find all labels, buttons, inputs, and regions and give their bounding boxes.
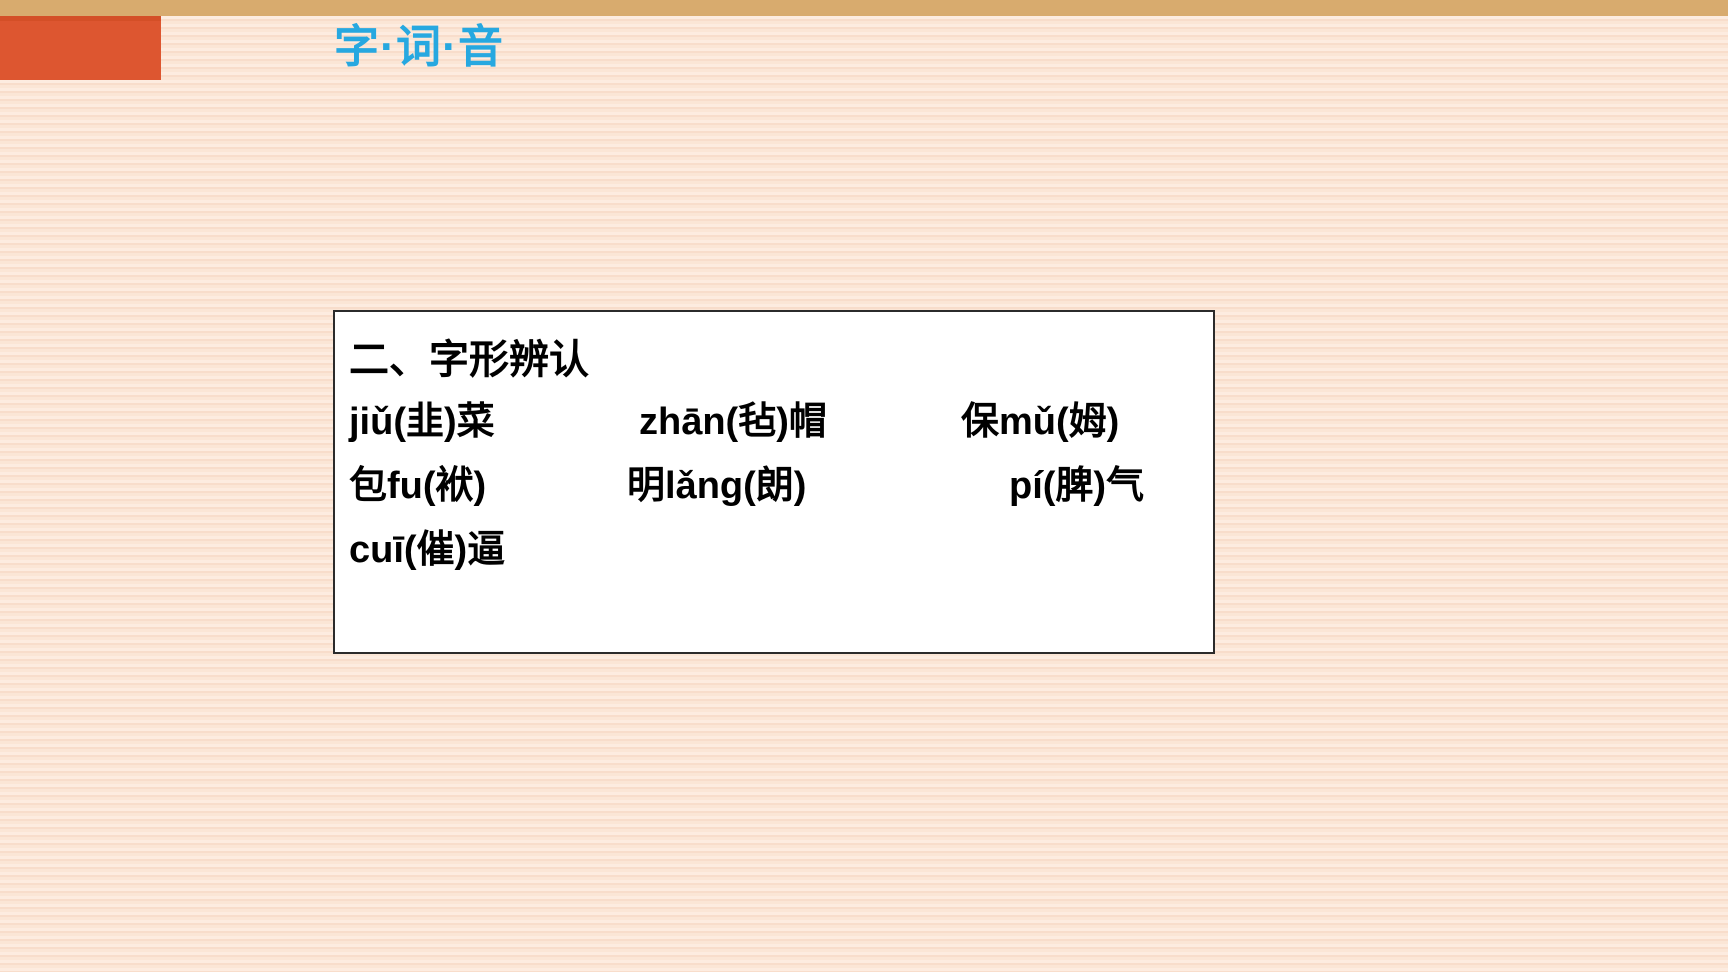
entry-item: zhān(毡)帽 bbox=[639, 402, 961, 444]
entry-item: 明lǎng(朗) bbox=[627, 466, 1009, 508]
header-corner-block-highlight bbox=[0, 16, 161, 21]
content-heading: 二、字形辨认 bbox=[349, 338, 1213, 382]
entry-item: jiǔ(韭)菜 bbox=[349, 402, 639, 444]
entry-item: 保mǔ(姆) bbox=[961, 402, 1119, 444]
entry-item: 包fu(袱) bbox=[349, 466, 627, 508]
content-box: 二、字形辨认 jiǔ(韭)菜 zhān(毡)帽 保mǔ(姆) 包fu(袱) 明l… bbox=[333, 310, 1215, 654]
entry-row: 包fu(袱) 明lǎng(朗) pí(脾)气 bbox=[349, 466, 1213, 508]
entry-row: jiǔ(韭)菜 zhān(毡)帽 保mǔ(姆) bbox=[349, 402, 1213, 444]
entry-item: cuī(催)逼 bbox=[349, 530, 505, 572]
slide-canvas: 字·词·音 二、字形辨认 jiǔ(韭)菜 zhān(毡)帽 保mǔ(姆) 包fu… bbox=[0, 0, 1728, 972]
header-top-band bbox=[0, 0, 1728, 16]
entry-row: cuī(催)逼 bbox=[349, 530, 1213, 572]
entry-item: pí(脾)气 bbox=[1009, 466, 1144, 508]
page-title: 字·词·音 bbox=[334, 22, 504, 72]
header-corner-block bbox=[0, 16, 161, 80]
